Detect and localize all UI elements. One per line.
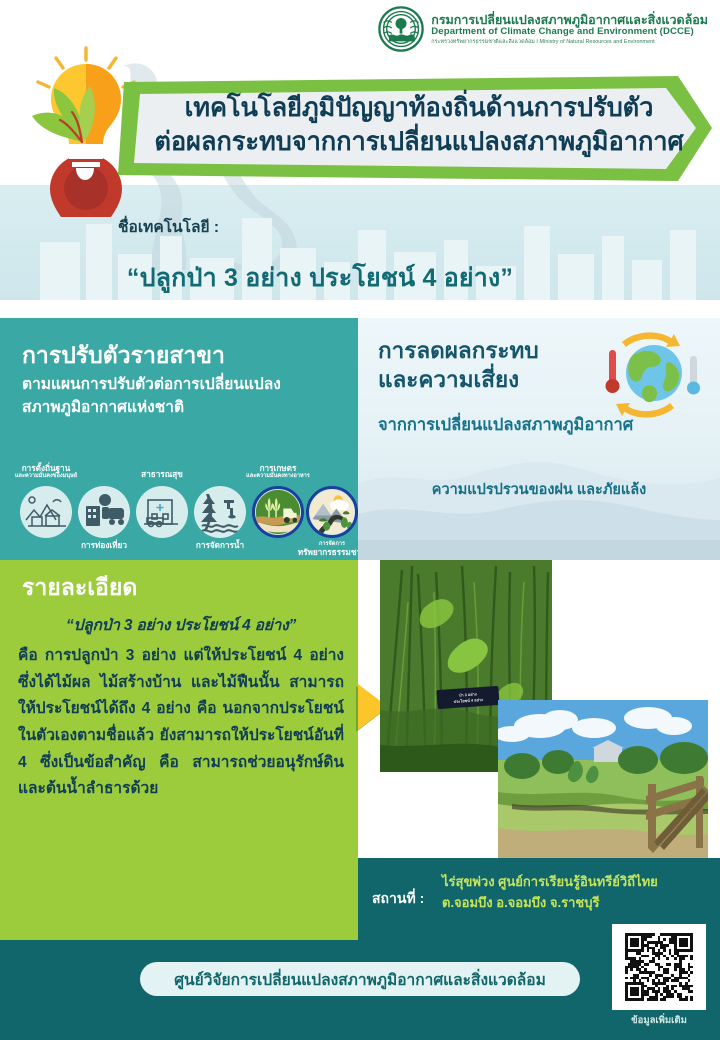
sector-item-water[interactable]: การจัดการน้ำ	[194, 486, 246, 538]
title-line-1: เทคโนโลยีภูมิปัญญาท้องถิ่นด้านการปรับตัว	[185, 94, 654, 122]
sector-item-agriculture[interactable]: การเกษตร และความมั่นคงทางอาหาร	[252, 486, 304, 538]
sector-label-health: สาธารณสุข	[110, 470, 214, 480]
mitigation-panel: การลดผลกระทบ และความเสี่ยง จากการเปลี่ยน…	[358, 318, 720, 560]
poster: กรมการเปลี่ยนแปลงสภาพภูมิอากาศและสิ่งแวด…	[0, 0, 720, 1040]
tourism-icon	[78, 486, 130, 538]
sector-label-tourism: การท่องเที่ยว	[52, 541, 156, 551]
footer-organization-label: ศูนย์วิจัยการเปลี่ยนแปลงสภาพภูมิอากาศและ…	[174, 967, 546, 992]
footer-bar: ศูนย์วิจัยการเปลี่ยนแปลงสภาพภูมิอากาศและ…	[0, 940, 720, 1040]
sector-label-water: การจัดการน้ำ	[168, 541, 272, 551]
photo2-illustration	[498, 700, 708, 858]
place-line-1: ไร่สุขพ่วง ศูนย์การเรียนรู้อินทรีย์วิถีไ…	[442, 874, 658, 889]
details-quote: “ปลูกป่า 3 อย่าง ประโยชน์ 4 อย่าง”	[18, 612, 344, 637]
adaptation-subheading-line2: สภาพภูมิอากาศแห่งชาติ	[22, 399, 184, 416]
qr-block[interactable]: ข้อมูลเพิ่มเติม	[612, 924, 706, 1034]
mitigation-heading-line2: และความเสี่ยง	[378, 367, 519, 392]
agriculture-icon	[252, 486, 304, 538]
technology-label: ชื่อเทคโนโลยี :	[118, 214, 219, 239]
adaptation-subheading: ตามแผนการปรับตัวต่อการเปลี่ยนแปลง สภาพภู…	[22, 374, 344, 420]
farm-landscape-photo	[498, 700, 708, 858]
sector-item-settlement[interactable]: การตั้งถิ่นฐาน และความมั่นคงของมนุษย์	[20, 486, 72, 538]
qr-caption: ข้อมูลเพิ่มเติม	[612, 1013, 706, 1028]
org-ministry: กระทรวงทรัพยากรธรรมชาติและสิ่งแวดล้อม I …	[431, 39, 708, 45]
place-line-2: ต.จอมบึง อ.จอมบึง จ.ราชบุรี	[442, 895, 599, 910]
adaptation-panel: การปรับตัวรายสาขา ตามแผนการปรับตัวต่อการ…	[0, 318, 358, 560]
natural-resource-icon	[306, 486, 358, 538]
header-band: กรมการเปลี่ยนแปลงสภาพภูมิอากาศและสิ่งแวด…	[0, 0, 720, 300]
org-name-th: กรมการเปลี่ยนแปลงสภาพภูมิอากาศและสิ่งแวด…	[431, 13, 708, 27]
qr-code-icon[interactable]	[612, 924, 706, 1010]
title-ribbon: เทคโนโลยีภูมิปัญญาท้องถิ่นด้านการปรับตัว…	[118, 76, 712, 181]
sector-item-health[interactable]: สาธารณสุข	[136, 486, 188, 538]
mitigation-subheading: จากการเปลี่ยนแปลงสภาพภูมิอากาศ	[378, 412, 708, 438]
place-label: สถานที่ :	[372, 888, 424, 910]
org-name-en: Department of Climate Change and Environ…	[431, 27, 708, 38]
sector-item-tourism[interactable]: การท่องเที่ยว	[78, 486, 130, 538]
water-icon	[194, 486, 246, 538]
title-line-2: ต่อผลกระทบจากการเปลี่ยนแปลงสภาพภูมิอากาศ	[154, 126, 684, 160]
sector-item-natural-resources[interactable]: การจัดการ ทรัพยากรธรรมชาติ	[306, 486, 358, 538]
health-icon	[136, 486, 188, 538]
adaptation-heading: การปรับตัวรายสาขา	[22, 338, 225, 374]
place-value: ไร่สุขพ่วง ศูนย์การเรียนรู้อินทรีย์วิถีไ…	[442, 871, 710, 913]
organization-logo: กรมการเปลี่ยนแปลงสภาพภูมิอากาศและสิ่งแวด…	[378, 6, 708, 52]
details-body: “ปลูกป่า 3 อย่าง ประโยชน์ 4 อย่าง” คือ ก…	[18, 612, 344, 803]
adaptation-subheading-line1: ตามแผนการปรับตัวต่อการเปลี่ยนแปลง	[22, 376, 281, 393]
sector-label-settlement: การตั้งถิ่นฐาน และความมั่นคงของมนุษย์	[0, 464, 98, 480]
details-heading: รายละเอียด	[22, 570, 137, 606]
footer-organization-pill: ศูนย์วิจัยการเปลี่ยนแปลงสภาพภูมิอากาศและ…	[140, 962, 580, 996]
sector-label-agriculture: การเกษตร และความมั่นคงทางอาหาร	[226, 464, 330, 480]
sector-icons-row: การตั้งถิ่นฐาน และความมั่นคงของมนุษย์	[6, 464, 358, 556]
page-title: เทคโนโลยีภูมิปัญญาท้องถิ่นด้านการปรับตัว…	[154, 92, 684, 160]
details-paragraph: คือ การปลูกป่า 3 อย่าง แต่ให้ประโยชน์ 4 …	[18, 643, 344, 803]
mitigation-heading-line1: การลดผลกระทบ	[378, 338, 539, 363]
sign-line-2: ประโยชน์ 4 อย่าง	[453, 696, 483, 703]
dcce-emblem-icon	[378, 6, 424, 52]
details-panel: รายละเอียด “ปลูกป่า 3 อย่าง ประโยชน์ 4 อ…	[0, 560, 358, 940]
mitigation-heading: การลดผลกระทบ และความเสี่ยง	[378, 336, 628, 395]
technology-name: “ปลูกป่า 3 อย่าง ประโยชน์ 4 อย่าง”	[0, 258, 640, 298]
mitigation-risk-text: ความแปรปรวนของฝน และภัยแล้ง	[358, 478, 720, 501]
settlement-icon	[20, 486, 72, 538]
